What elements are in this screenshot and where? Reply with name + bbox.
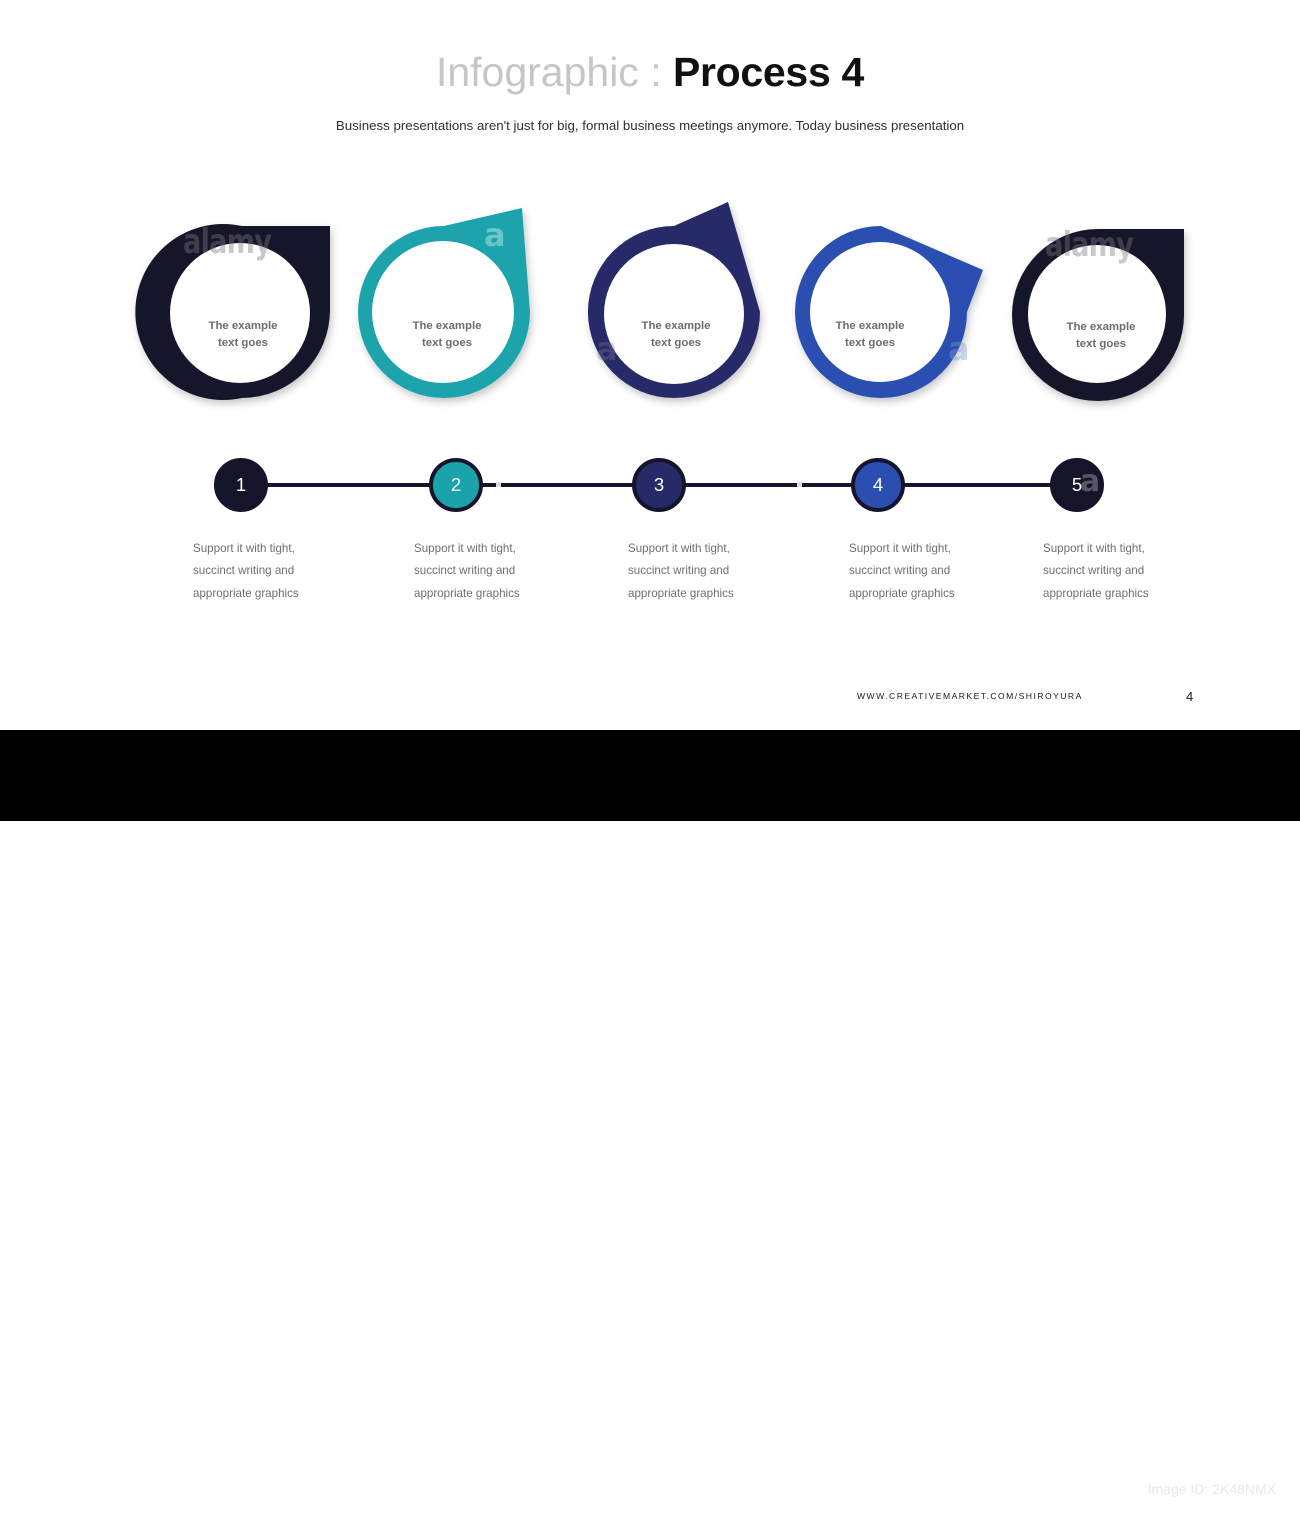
teardrop-5[interactable]: The example text goes	[1012, 225, 1190, 401]
teardrop-ring-icon	[586, 202, 766, 398]
alamy-image-id: Image ID: 2K48NMX	[1148, 1481, 1276, 1497]
step-caption-5: Support it with tight, succinct writing …	[1043, 538, 1183, 605]
teardrop-ring-icon	[150, 222, 336, 402]
step-node-2-number: 2	[451, 474, 461, 496]
teardrop-ring-icon	[1012, 225, 1190, 401]
teardrop-1[interactable]: The example text goes	[150, 222, 336, 402]
teardrop-3[interactable]: The example text goes	[586, 202, 766, 398]
step-caption-3: Support it with tight, succinct writing …	[628, 538, 768, 605]
step-caption-group: Support it with tight, succinct writing …	[0, 538, 1300, 618]
slide-canvas: Infographic : Process 4 Business present…	[0, 0, 1300, 730]
step-node-4-number: 4	[873, 474, 883, 496]
alamy-logo: alamy	[52, 1478, 164, 1523]
timeline-tick	[496, 482, 501, 487]
step-node-3[interactable]: 3	[632, 458, 686, 512]
step-node-1[interactable]: 1	[214, 458, 268, 512]
slide-credit: WWW.CREATIVEMARKET.COM/SHIROYURA	[857, 691, 1083, 701]
step-node-1-number: 1	[236, 474, 246, 496]
step-caption-2: Support it with tight, succinct writing …	[414, 538, 554, 605]
timeline-tick	[797, 482, 802, 487]
alamy-watermark-bar: alamy Image ID: 2K48NMX www.alamy.com	[0, 730, 1300, 821]
step-node-5[interactable]: 5	[1050, 458, 1104, 512]
step-node-4[interactable]: 4	[851, 458, 905, 512]
teardrop-group: The example text goes The example text g…	[0, 0, 1300, 430]
step-timeline: 1 2 3 4 5 a	[0, 440, 1300, 535]
teardrop-2[interactable]: The example text goes	[358, 208, 536, 398]
step-caption-1: Support it with tight, succinct writing …	[193, 538, 333, 605]
slide-page-number: 4	[1186, 689, 1193, 704]
teardrop-ring-icon	[795, 208, 989, 398]
step-caption-4: Support it with tight, succinct writing …	[849, 538, 989, 605]
teardrop-ring-icon	[358, 208, 536, 398]
step-node-2[interactable]: 2	[429, 458, 483, 512]
alamy-url: www.alamy.com	[1157, 1507, 1276, 1525]
step-node-3-number: 3	[654, 474, 664, 496]
step-node-5-number: 5	[1072, 474, 1082, 496]
teardrop-4[interactable]: The example text goes	[795, 208, 989, 398]
